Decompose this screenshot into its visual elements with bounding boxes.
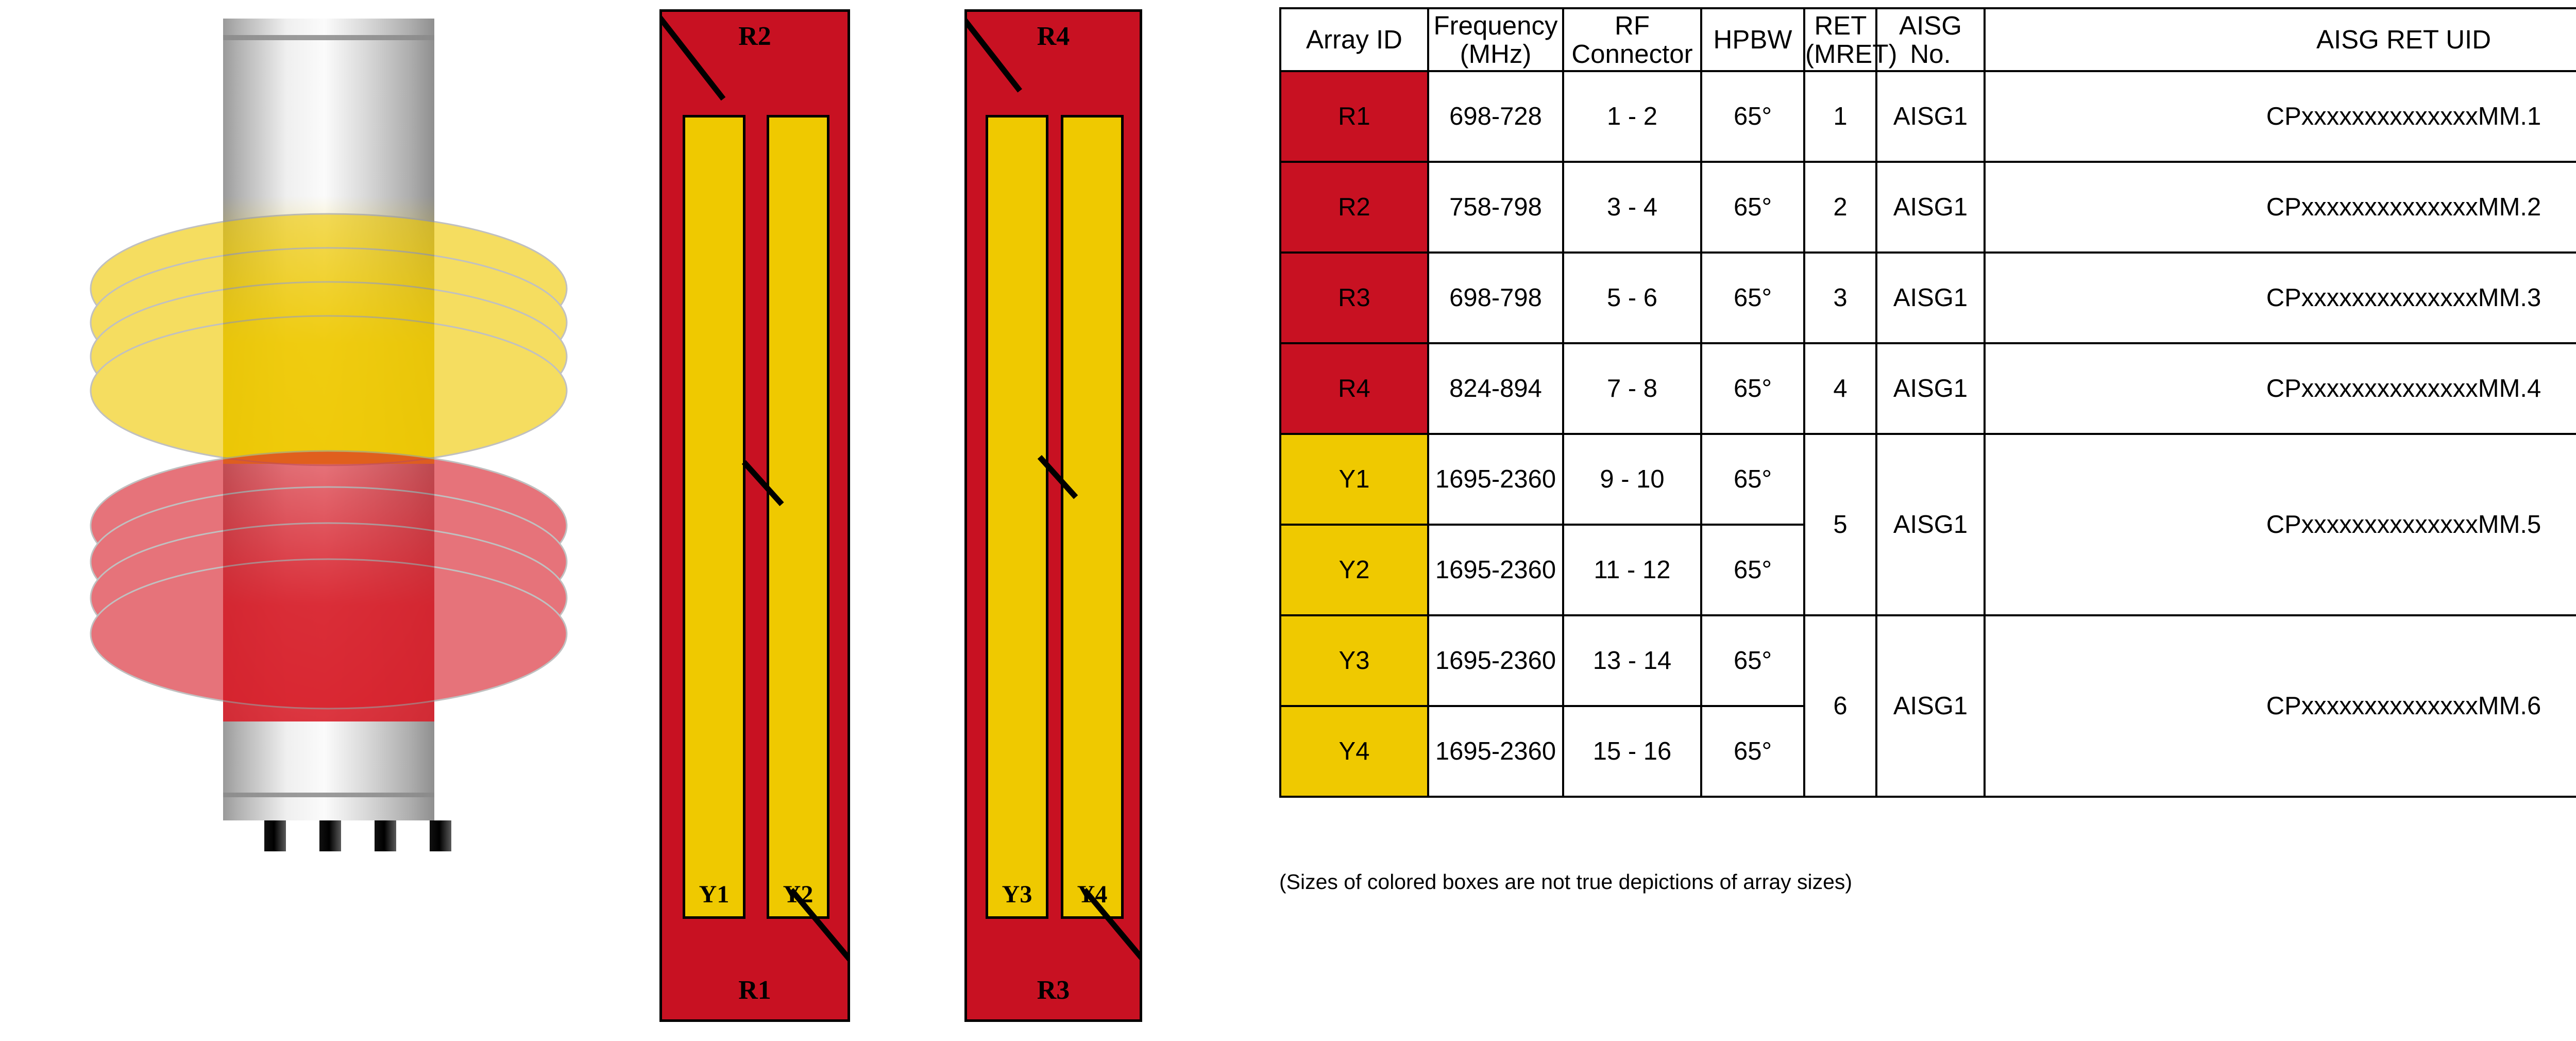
cell-aisg-ret-uid: CPxxxxxxxxxxxxxxMM.3 — [1985, 253, 2576, 343]
header-ret-line2: (MRET) — [1805, 39, 1897, 69]
table-row: R1 698-728 1 - 2 65° 1 AISG1 CPxxxxxxxxx… — [1280, 71, 2576, 162]
array-block-y1-label: Y1 — [685, 882, 743, 907]
cell-hpbw: 65° — [1701, 253, 1804, 343]
cell-array-id: R2 — [1280, 162, 1428, 253]
cell-frequency: 698-798 — [1428, 253, 1563, 343]
cell-array-id: Y1 — [1280, 434, 1428, 525]
cell-rf-connector: 13 - 14 — [1563, 615, 1701, 706]
cell-aisg-no: AISG1 — [1876, 434, 1985, 615]
cell-ret: 2 — [1804, 162, 1876, 253]
panel-1-top-label: R2 — [662, 23, 848, 50]
header-aisg-ret-uid: AISG RET UID — [1985, 8, 2576, 71]
array-block-y4: Y4 — [1061, 115, 1124, 919]
cell-array-id: R4 — [1280, 343, 1428, 434]
header-ret-line1: RET — [1814, 11, 1866, 40]
header-hpbw: HPBW — [1701, 8, 1804, 71]
header-rf-connector: RF Connector — [1563, 8, 1701, 71]
cell-hpbw: 65° — [1701, 615, 1804, 706]
cell-frequency: 1695-2360 — [1428, 706, 1563, 797]
cell-hpbw: 65° — [1701, 525, 1804, 615]
cell-hpbw: 65° — [1701, 434, 1804, 525]
cell-rf-connector: 1 - 2 — [1563, 71, 1701, 162]
table-row: R4 824-894 7 - 8 65° 4 AISG1 CPxxxxxxxxx… — [1280, 343, 2576, 434]
cell-aisg-ret-uid: CPxxxxxxxxxxxxxxMM.1 — [1985, 71, 2576, 162]
array-block-y2: Y2 — [767, 115, 829, 919]
table-footnote: (Sizes of colored boxes are not true dep… — [1279, 870, 1852, 894]
connector-pins — [264, 820, 451, 851]
cell-hpbw: 65° — [1701, 162, 1804, 253]
cell-hpbw: 65° — [1701, 71, 1804, 162]
table-row: R2 758-798 3 - 4 65° 2 AISG1 CPxxxxxxxxx… — [1280, 162, 2576, 253]
header-frequency: Frequency (MHz) — [1428, 8, 1563, 71]
array-block-y1: Y1 — [683, 115, 745, 919]
cell-aisg-no: AISG1 — [1876, 615, 1985, 797]
antenna-mast-coverage-diagram — [0, 0, 639, 1041]
table-row: Y3 1695-2360 13 - 14 65° 6 AISG1 CPxxxxx… — [1280, 615, 2576, 706]
cell-ret: 1 — [1804, 71, 1876, 162]
cell-frequency: 1695-2360 — [1428, 434, 1563, 525]
cell-array-id: R1 — [1280, 71, 1428, 162]
red-coverage-lobes — [91, 451, 567, 709]
header-ret: RET (MRET) — [1804, 8, 1876, 71]
array-block-y3-label: Y3 — [988, 882, 1046, 907]
table-header-row: Array ID Frequency (MHz) RF Connector HP… — [1280, 8, 2576, 71]
cell-aisg-ret-uid: CPxxxxxxxxxxxxxxMM.4 — [1985, 343, 2576, 434]
array-specification-table: Array ID Frequency (MHz) RF Connector HP… — [1279, 7, 2576, 798]
header-frequency-line2: (MHz) — [1460, 39, 1532, 69]
cell-frequency: 1695-2360 — [1428, 615, 1563, 706]
header-frequency-line1: Frequency — [1434, 11, 1558, 40]
cell-hpbw: 65° — [1701, 706, 1804, 797]
cell-aisg-no: AISG1 — [1876, 253, 1985, 343]
cell-array-id: R3 — [1280, 253, 1428, 343]
panel-2-top-label: R4 — [967, 23, 1140, 50]
cell-aisg-ret-uid: CPxxxxxxxxxxxxxxMM.2 — [1985, 162, 2576, 253]
cell-array-id: Y2 — [1280, 525, 1428, 615]
cell-rf-connector: 11 - 12 — [1563, 525, 1701, 615]
cell-rf-connector: 7 - 8 — [1563, 343, 1701, 434]
cell-ret: 5 — [1804, 434, 1876, 615]
cell-rf-connector: 5 - 6 — [1563, 253, 1701, 343]
cell-ret: 6 — [1804, 615, 1876, 797]
cell-array-id: Y4 — [1280, 706, 1428, 797]
table-row: Y1 1695-2360 9 - 10 65° 5 AISG1 CPxxxxxx… — [1280, 434, 2576, 525]
cell-ret: 3 — [1804, 253, 1876, 343]
cell-rf-connector: 9 - 10 — [1563, 434, 1701, 525]
cell-rf-connector: 15 - 16 — [1563, 706, 1701, 797]
cell-ret: 4 — [1804, 343, 1876, 434]
cell-frequency: 698-728 — [1428, 71, 1563, 162]
array-panel-left: R2 Y1 Y2 R1 — [659, 9, 850, 1022]
cell-aisg-no: AISG1 — [1876, 71, 1985, 162]
cell-frequency: 758-798 — [1428, 162, 1563, 253]
cell-aisg-ret-uid: CPxxxxxxxxxxxxxxMM.5 — [1985, 434, 2576, 615]
cell-frequency: 824-894 — [1428, 343, 1563, 434]
cell-aisg-no: AISG1 — [1876, 162, 1985, 253]
yellow-coverage-lobes — [91, 214, 567, 465]
cell-aisg-no: AISG1 — [1876, 343, 1985, 434]
array-block-y3: Y3 — [986, 115, 1048, 919]
panel-1-bottom-label: R1 — [662, 977, 848, 1004]
cell-frequency: 1695-2360 — [1428, 525, 1563, 615]
cell-hpbw: 65° — [1701, 343, 1804, 434]
cell-aisg-ret-uid: CPxxxxxxxxxxxxxxMM.6 — [1985, 615, 2576, 797]
table-row: R3 698-798 5 - 6 65° 3 AISG1 CPxxxxxxxxx… — [1280, 253, 2576, 343]
panel-2-bottom-label: R3 — [967, 977, 1140, 1004]
cell-rf-connector: 3 - 4 — [1563, 162, 1701, 253]
cell-array-id: Y3 — [1280, 615, 1428, 706]
mast-lower-section — [223, 721, 434, 820]
array-panel-right: R4 Y3 Y4 R3 — [964, 9, 1142, 1022]
header-array-id: Array ID — [1280, 8, 1428, 71]
